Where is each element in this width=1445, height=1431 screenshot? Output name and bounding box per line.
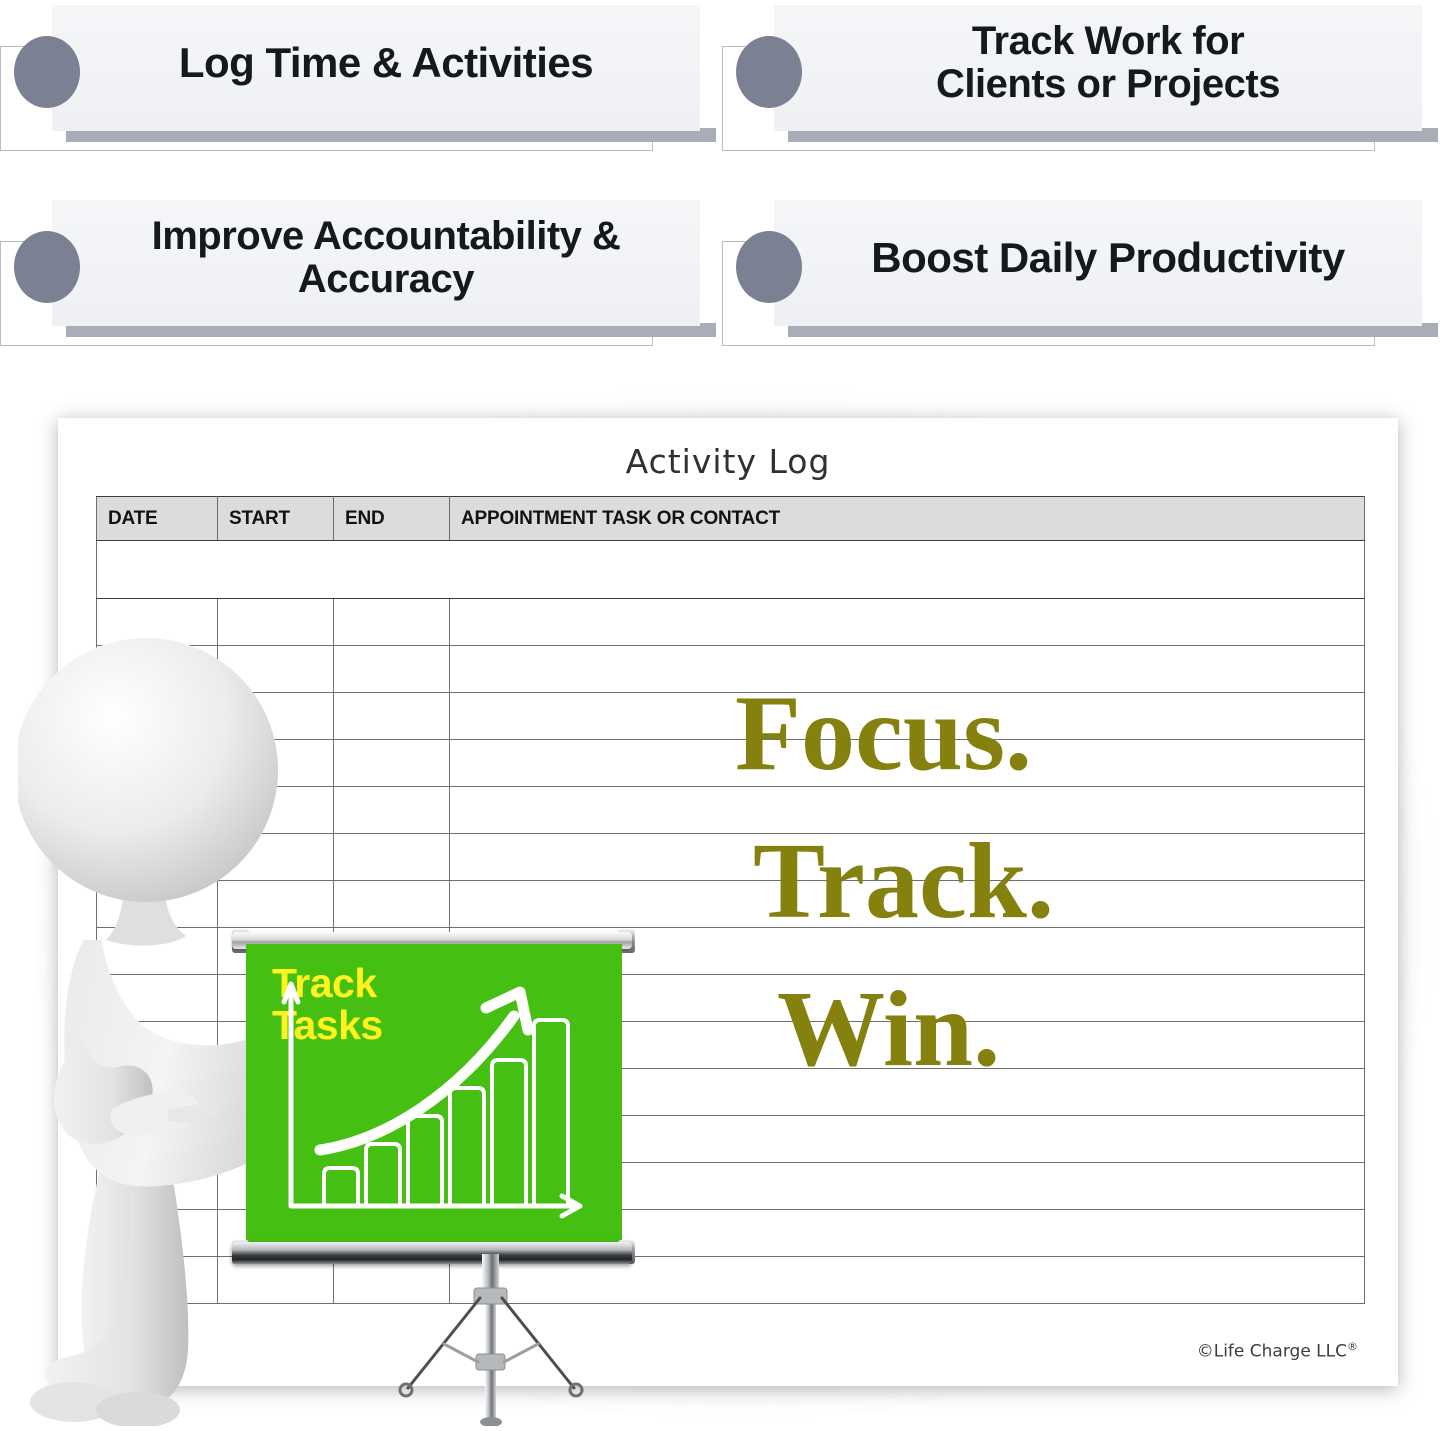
bullet-circle-icon: [14, 36, 80, 108]
page-title: Activity Log: [58, 442, 1398, 481]
table-cell[interactable]: [450, 599, 1365, 646]
bullet-circle-icon: [736, 231, 802, 303]
table-cell[interactable]: [450, 787, 1365, 834]
table-cell[interactable]: [450, 646, 1365, 693]
table-spacer-row: [97, 541, 1365, 599]
bullet-circle-icon: [14, 231, 80, 303]
chart-bar: [492, 1060, 526, 1204]
table-header-date[interactable]: DATE: [97, 497, 218, 541]
table-spacer-cell: [97, 541, 1365, 599]
mascot-head: [18, 638, 278, 902]
tripod-brace-left: [444, 1344, 478, 1362]
feature-label: Improve Accountability &Accuracy: [86, 195, 686, 321]
tripod-brace-right: [504, 1344, 538, 1362]
copyright-notice: ©Life Charge LLC®: [1197, 1340, 1358, 1362]
feature-label: Track Work forClients or Projects: [808, 0, 1408, 126]
feature-label: Log Time & Activities: [86, 0, 686, 126]
track-tasks-bar-chart: [246, 944, 622, 1246]
chart-bar: [450, 1088, 484, 1204]
chart-bar: [534, 1020, 568, 1204]
projector-screen-canvas: Track Tasks: [246, 944, 622, 1246]
table-cell[interactable]: [450, 740, 1365, 787]
chart-bar: [324, 1168, 358, 1204]
table-header-row: DATESTARTENDAPPOINTMENT TASK OR CONTACT: [97, 497, 1365, 541]
table-cell[interactable]: [450, 881, 1365, 928]
bullet-circle-icon: [736, 36, 802, 108]
table-header-start[interactable]: START: [218, 497, 334, 541]
tripod-foot-left: [400, 1384, 412, 1396]
copyright-text: Life Charge LLC: [1214, 1342, 1347, 1362]
registered-symbol: ®: [1347, 1340, 1358, 1353]
table-cell[interactable]: [450, 693, 1365, 740]
tripod-lower-collar: [476, 1354, 505, 1370]
tripod-foot-center: [480, 1417, 502, 1426]
feature-box-boost-daily-productivity[interactable]: Boost Daily Productivity: [722, 195, 1422, 365]
tripod-foot-right: [570, 1384, 582, 1396]
feature-label: Boost Daily Productivity: [808, 195, 1408, 321]
feature-benefits-grid: Log Time & Activities Track Work forClie…: [0, 0, 1445, 380]
chart-bar: [366, 1144, 400, 1204]
feature-box-track-work-clients-projects[interactable]: Track Work forClients or Projects: [722, 0, 1422, 170]
copyright-symbol: ©: [1197, 1342, 1214, 1362]
feature-box-improve-accountability[interactable]: Improve Accountability &Accuracy: [0, 195, 700, 365]
table-header-end[interactable]: END: [334, 497, 450, 541]
page-title-text: Activity Log: [626, 442, 831, 481]
chart-bar: [408, 1116, 442, 1204]
projector-screen-prop: Track Tasks: [232, 924, 654, 1426]
chart-bars: [324, 1020, 568, 1204]
table-header-appointment-task-or-contact[interactable]: APPOINTMENT TASK OR CONTACT: [450, 497, 1365, 541]
table-cell[interactable]: [450, 834, 1365, 881]
projector-tripod-stand: [360, 1254, 620, 1426]
feature-box-log-time-activities[interactable]: Log Time & Activities: [0, 0, 700, 170]
